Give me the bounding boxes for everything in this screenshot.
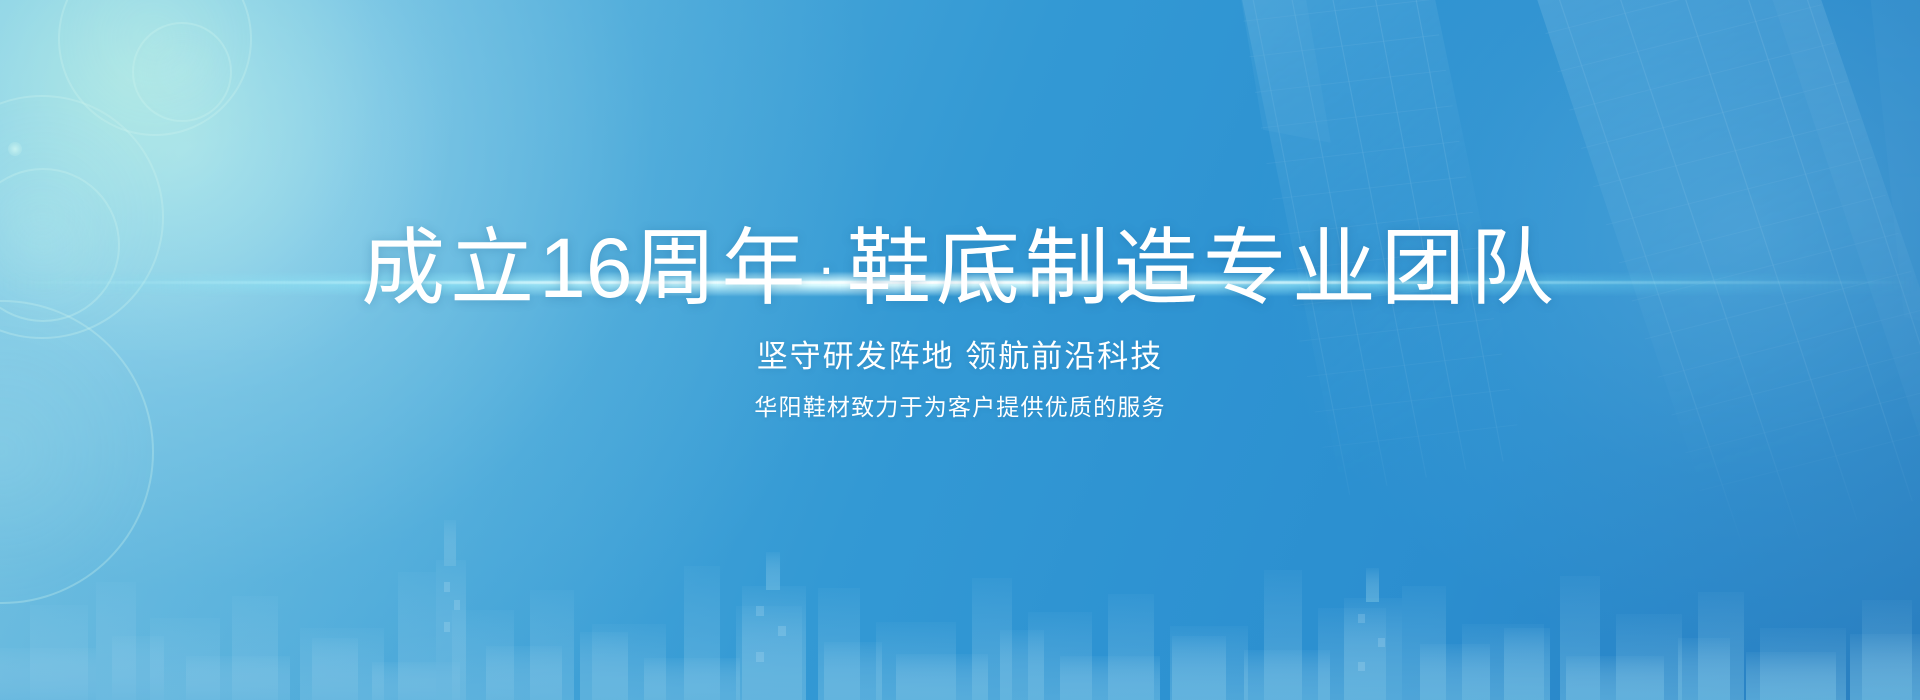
hero-banner: 成立16周年·鞋底制造专业团队 坚守研发阵地 领航前沿科技 华阳鞋材致力于为客户… — [0, 0, 1920, 700]
headline-prefix: 成立 — [361, 221, 539, 315]
headline-anniversary-number: 16 — [539, 221, 632, 315]
banner-content: 成立16周年·鞋底制造专业团队 坚守研发阵地 领航前沿科技 华阳鞋材致力于为客户… — [0, 0, 1920, 700]
banner-headline: 成立16周年·鞋底制造专业团队 — [361, 226, 1559, 310]
headline-separator-dot: · — [811, 235, 847, 300]
headline-suffix: 鞋底制造专业团队 — [847, 221, 1559, 315]
banner-tagline: 华阳鞋材致力于为客户提供优质的服务 — [754, 393, 1165, 422]
banner-subtitle: 坚守研发阵地 领航前沿科技 — [757, 338, 1164, 375]
headline-middle: 周年 — [633, 221, 811, 315]
